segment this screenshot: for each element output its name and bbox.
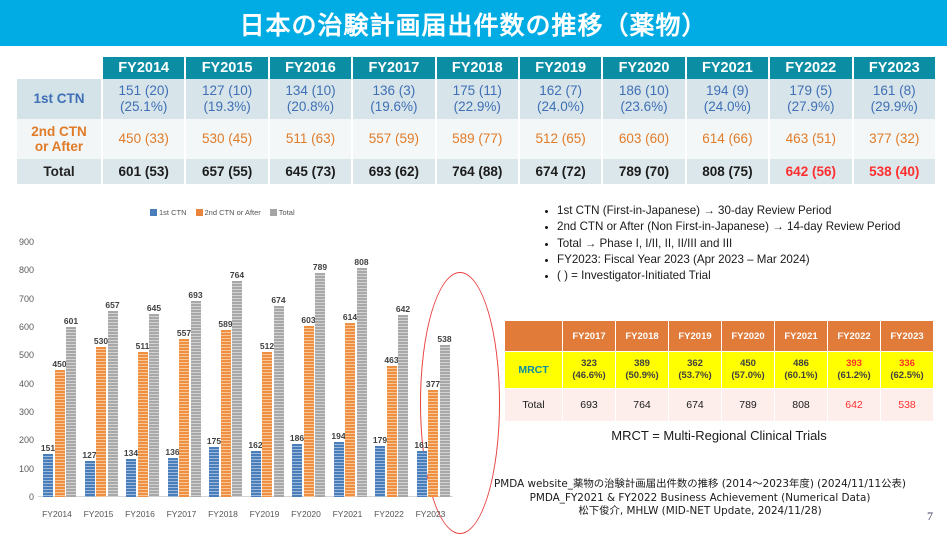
table-cell: 463 (51) — [769, 119, 852, 159]
table-cell: 693 (62) — [352, 159, 435, 184]
table-row: Total601 (53)657 (55)645 (73)693 (62)764… — [17, 159, 936, 184]
mrct-cell: 486(60.1%) — [775, 352, 828, 389]
bar-value-label: 538 — [428, 334, 462, 344]
mrct-column-header-fy2021: FY2021 — [775, 321, 828, 352]
bar-fy2021-2nd-ctn-or-after — [345, 323, 355, 497]
bar-fy2015-1st-ctn — [85, 461, 95, 497]
y-axis-tick: 0 — [2, 492, 34, 502]
bar-fy2018-1st-ctn — [209, 447, 219, 497]
table-cell: 194 (9)(24.0%) — [686, 79, 769, 119]
table-cell: 127 (10)(19.3%) — [185, 79, 268, 119]
x-axis-label-fy2017: FY2017 — [159, 509, 205, 519]
bullet-item-3: Total → Phase I, I/II, II, II/III and II… — [557, 236, 940, 251]
table-cell: 134 (10)(20.8%) — [269, 79, 352, 119]
table-cell: 161 (8)(29.9%) — [853, 79, 936, 119]
bar-value-label: 693 — [179, 290, 213, 300]
bar-fy2016-2nd-ctn-or-after — [138, 352, 148, 497]
x-axis-label-fy2018: FY2018 — [200, 509, 246, 519]
footer-line-1: PMDA website_薬物の治験計画届出件数の推移 (2014～2023年度… — [470, 478, 930, 492]
mrct-column-header-fy2022: FY2022 — [828, 321, 881, 352]
column-header-fy2017: FY2017 — [352, 57, 435, 79]
bullet-list: 1st CTN (First-in-Japanese) → 30-day Rev… — [540, 203, 940, 283]
table-row: 2nd CTNor After450 (33)530 (45)511 (63)5… — [17, 119, 936, 159]
bar-fy2023-1st-ctn — [417, 451, 427, 497]
mrct-cell: 362(53.7%) — [669, 352, 722, 389]
x-axis-label-fy2019: FY2019 — [242, 509, 288, 519]
table-header-row: FY2014FY2015FY2016FY2017FY2018FY2019FY20… — [17, 57, 936, 79]
mrct-cell: 764 — [616, 389, 669, 422]
bar-fy2022-total — [398, 315, 408, 497]
bullet-item-5: ( ) = Investigator-Initiated Trial — [557, 268, 940, 283]
column-header-fy2019: FY2019 — [519, 57, 602, 79]
bar-value-label: 601 — [54, 316, 88, 326]
bar-value-label: 764 — [220, 270, 254, 280]
bar-fy2017-1st-ctn — [168, 458, 178, 497]
bar-fy2020-2nd-ctn-or-after — [304, 326, 314, 497]
column-header-fy2021: FY2021 — [686, 57, 769, 79]
mrct-cell: 336(62.5%) — [881, 352, 934, 389]
mrct-column-header-fy2020: FY2020 — [722, 321, 775, 352]
y-axis-tick: 300 — [2, 407, 34, 417]
table-cell: 614 (66) — [686, 119, 769, 159]
mrct-row: MRCT323(46.6%)389(50.9%)362(53.7%)450(57… — [505, 352, 934, 389]
mrct-header-row: FY2017FY2018FY2019FY2020FY2021FY2022FY20… — [505, 321, 934, 352]
chart-plot-area: 0100200300400500600700800900151450601FY2… — [0, 206, 470, 531]
x-axis-label-fy2020: FY2020 — [283, 509, 329, 519]
column-header-fy2023: FY2023 — [853, 57, 936, 79]
bar-fy2014-1st-ctn — [43, 454, 53, 497]
source-footer: PMDA website_薬物の治験計画届出件数の推移 (2014～2023年度… — [470, 478, 930, 519]
column-header-fy2016: FY2016 — [269, 57, 352, 79]
bar-fy2017-2nd-ctn-or-after — [179, 339, 189, 497]
table-cell: 377 (32) — [853, 119, 936, 159]
bar-fy2021-1st-ctn — [334, 442, 344, 497]
column-header-fy2014: FY2014 — [102, 57, 185, 79]
definitions-bullet-list: 1st CTN (First-in-Japanese) → 30-day Rev… — [540, 203, 940, 284]
column-header-fy2015: FY2015 — [185, 57, 268, 79]
x-axis-label-fy2014: FY2014 — [34, 509, 80, 519]
row-label: 2nd CTNor After — [17, 119, 102, 159]
table-cell: 645 (73) — [269, 159, 352, 184]
x-axis-label-fy2016: FY2016 — [117, 509, 163, 519]
row-label: 1st CTN — [17, 79, 102, 119]
mrct-cell: 538 — [881, 389, 934, 422]
bar-fy2014-total — [66, 327, 76, 497]
table-cell: 642 (56) — [769, 159, 852, 184]
table-cell: 179 (5)(27.9%) — [769, 79, 852, 119]
bar-fy2016-total — [149, 314, 159, 497]
y-axis-tick: 600 — [2, 322, 34, 332]
mrct-row-label: Total — [505, 389, 563, 422]
mrct-cell: 393(61.2%) — [828, 352, 881, 389]
mrct-column-header-fy2023: FY2023 — [881, 321, 934, 352]
mrct-row-label: MRCT — [505, 352, 563, 389]
ctn-counts-table: FY2014FY2015FY2016FY2017FY2018FY2019FY20… — [17, 57, 937, 184]
y-axis-tick: 500 — [2, 350, 34, 360]
mrct-corner-cell — [505, 321, 563, 352]
table-cell: 512 (65) — [519, 119, 602, 159]
table-cell: 674 (72) — [519, 159, 602, 184]
table-body: 1st CTN151 (20)(25.1%)127 (10)(19.3%)134… — [17, 79, 936, 184]
bar-value-label: 657 — [96, 300, 130, 310]
table-cell: 603 (60) — [602, 119, 685, 159]
mrct-cell: 389(50.9%) — [616, 352, 669, 389]
mrct-cell: 642 — [828, 389, 881, 422]
table-cell: 808 (75) — [686, 159, 769, 184]
column-header-fy2022: FY2022 — [769, 57, 852, 79]
bar-fy2018-total — [232, 281, 242, 497]
bar-fy2015-total — [108, 311, 118, 497]
bar-value-label: 674 — [262, 295, 296, 305]
bar-fy2019-2nd-ctn-or-after — [262, 352, 272, 497]
table-cell: 151 (20)(25.1%) — [102, 79, 185, 119]
bar-value-label: 642 — [386, 304, 420, 314]
mrct-cell: 808 — [775, 389, 828, 422]
bar-fy2023-total — [440, 345, 450, 497]
table-cell: 789 (70) — [602, 159, 685, 184]
table-cell: 186 (10)(23.6%) — [602, 79, 685, 119]
bar-fy2019-total — [274, 306, 284, 497]
x-axis-label-fy2022: FY2022 — [366, 509, 412, 519]
bar-fy2016-1st-ctn — [126, 459, 136, 497]
ctn-trend-bar-chart: 1st CTN2nd CTN or AfterTotal 01002003004… — [0, 206, 470, 531]
mrct-cell: 323(46.6%) — [563, 352, 616, 389]
column-header-fy2018: FY2018 — [436, 57, 519, 79]
y-axis-tick: 800 — [2, 265, 34, 275]
bar-fy2015-2nd-ctn-or-after — [96, 347, 106, 497]
table-cell: 601 (53) — [102, 159, 185, 184]
table-cell: 175 (11)(22.9%) — [436, 79, 519, 119]
footer-line-3: 松下俊介, MHLW (MID-NET Update, 2024/11/28) — [470, 505, 930, 519]
page-number: 7 — [927, 509, 933, 524]
mrct-body: MRCT323(46.6%)389(50.9%)362(53.7%)450(57… — [505, 352, 934, 422]
x-axis-label-fy2021: FY2021 — [325, 509, 371, 519]
table-cell: 538 (40) — [853, 159, 936, 184]
bar-fy2023-2nd-ctn-or-after — [428, 390, 438, 497]
mrct-note: MRCT = Multi-Regional Clinical Trials — [504, 428, 934, 443]
table-row: 1st CTN151 (20)(25.1%)127 (10)(19.3%)134… — [17, 79, 936, 119]
bar-value-label: 645 — [137, 303, 171, 313]
bar-fy2021-total — [357, 268, 367, 497]
bar-fy2018-2nd-ctn-or-after — [221, 330, 231, 497]
row-label: Total — [17, 159, 102, 184]
bar-value-label: 789 — [303, 262, 337, 272]
mrct-cell: 693 — [563, 389, 616, 422]
bar-fy2022-1st-ctn — [375, 446, 385, 497]
table-cell: 511 (63) — [269, 119, 352, 159]
table-cell: 530 (45) — [185, 119, 268, 159]
x-axis-label-fy2015: FY2015 — [76, 509, 122, 519]
table-cell: 657 (55) — [185, 159, 268, 184]
bullet-item-1: 1st CTN (First-in-Japanese) → 30-day Rev… — [557, 203, 940, 218]
bar-fy2022-2nd-ctn-or-after — [387, 366, 397, 497]
footer-line-2: PMDA_FY2021 & FY2022 Business Achievemen… — [470, 492, 930, 506]
mrct-table: FY2017FY2018FY2019FY2020FY2021FY2022FY20… — [504, 320, 934, 422]
mrct-column-header-fy2018: FY2018 — [616, 321, 669, 352]
bullet-item-2: 2nd CTN or After (Non First-in-Japanese)… — [557, 219, 940, 234]
bullet-item-4: FY2023: Fiscal Year 2023 (Apr 2023 – Mar… — [557, 252, 940, 267]
mrct-cell: 450(57.0%) — [722, 352, 775, 389]
table-cell: 162 (7)(24.0%) — [519, 79, 602, 119]
mrct-column-header-fy2019: FY2019 — [669, 321, 722, 352]
bar-fy2020-1st-ctn — [292, 444, 302, 497]
bar-fy2019-1st-ctn — [251, 451, 261, 497]
bar-fy2014-2nd-ctn-or-after — [55, 370, 65, 498]
x-axis-label-fy2023: FY2023 — [408, 509, 454, 519]
y-axis-tick: 200 — [2, 435, 34, 445]
table-cell: 557 (59) — [352, 119, 435, 159]
table-corner-cell — [17, 57, 102, 79]
table-cell: 589 (77) — [436, 119, 519, 159]
y-axis-tick: 100 — [2, 464, 34, 474]
table-cell: 764 (88) — [436, 159, 519, 184]
table-cell: 450 (33) — [102, 119, 185, 159]
slide-title-bar: 日本の治験計画届出件数の推移（薬物） — [0, 0, 947, 46]
y-axis-tick: 900 — [2, 237, 34, 247]
column-header-fy2020: FY2020 — [602, 57, 685, 79]
y-axis-tick: 700 — [2, 294, 34, 304]
mrct-row: Total693764674789808642538 — [505, 389, 934, 422]
mrct-column-header-fy2017: FY2017 — [563, 321, 616, 352]
mrct-cell: 789 — [722, 389, 775, 422]
bar-fy2020-total — [315, 273, 325, 497]
mrct-cell: 674 — [669, 389, 722, 422]
y-axis-tick: 400 — [2, 379, 34, 389]
bar-value-label: 808 — [345, 257, 379, 267]
table-cell: 136 (3)(19.6%) — [352, 79, 435, 119]
page-title: 日本の治験計画届出件数の推移（薬物） — [0, 6, 947, 42]
bar-fy2017-total — [191, 301, 201, 497]
